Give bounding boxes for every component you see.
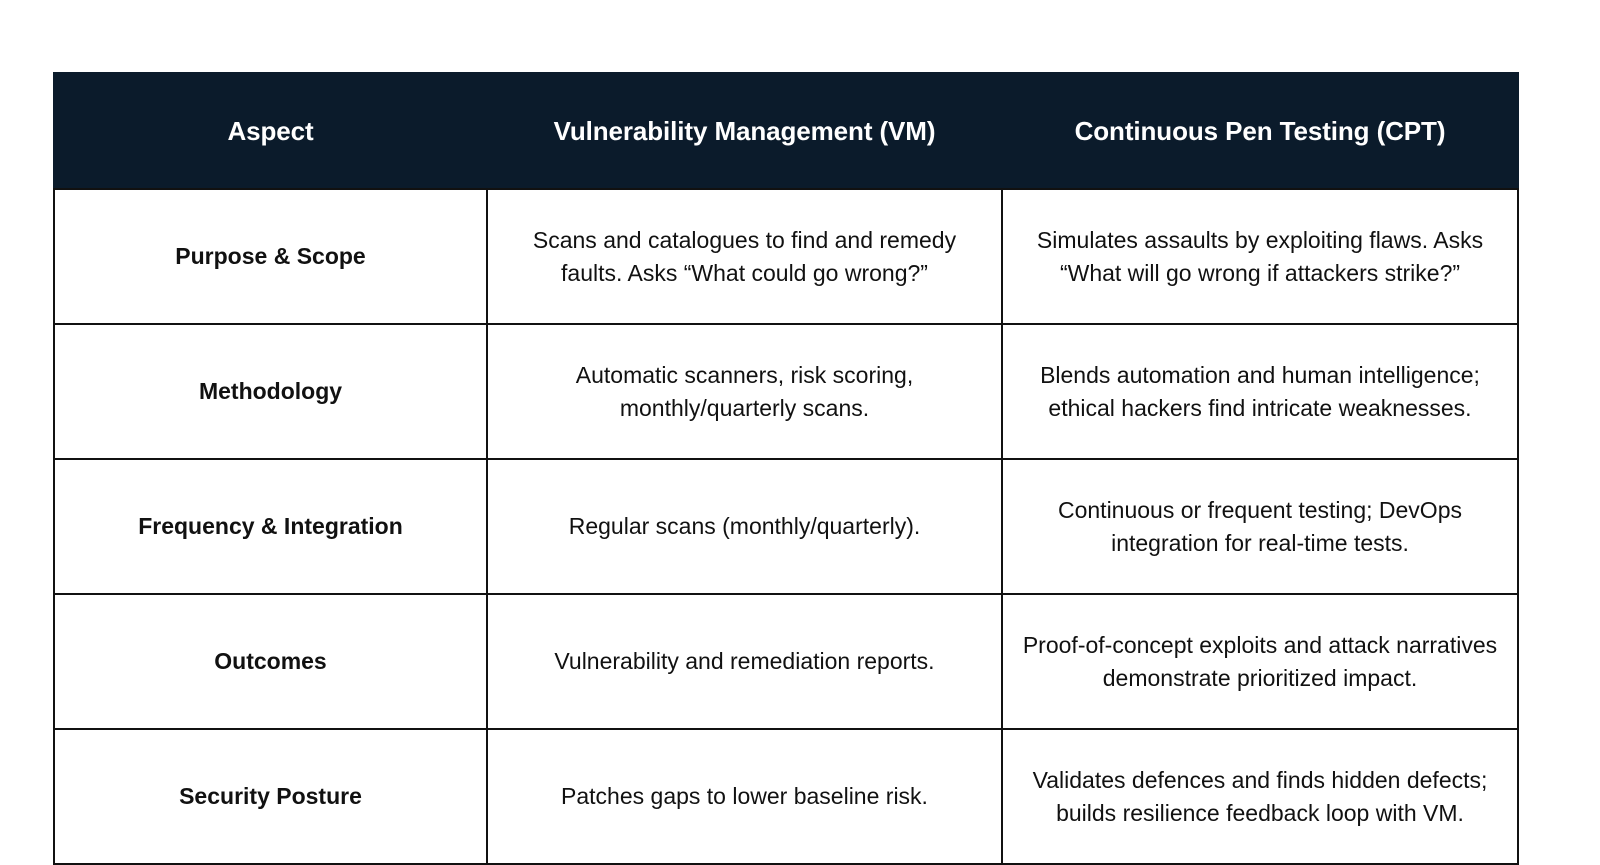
cell-vulnerability-management: Automatic scanners, risk scoring, monthl… <box>487 324 1002 459</box>
comparison-table: Aspect Vulnerability Management (VM) Con… <box>53 72 1519 865</box>
table-row: Outcomes Vulnerability and remediation r… <box>54 594 1518 729</box>
cell-vulnerability-management: Vulnerability and remediation reports. <box>487 594 1002 729</box>
cell-continuous-pen-testing: Proof-of-concept exploits and attack nar… <box>1002 594 1518 729</box>
cell-aspect: Frequency & Integration <box>54 459 487 594</box>
table-body: Purpose & Scope Scans and catalogues to … <box>54 189 1518 864</box>
cell-continuous-pen-testing: Continuous or frequent testing; DevOps i… <box>1002 459 1518 594</box>
cell-continuous-pen-testing: Validates defences and finds hidden defe… <box>1002 729 1518 864</box>
column-header-vulnerability-management: Vulnerability Management (VM) <box>487 73 1002 189</box>
cell-continuous-pen-testing: Simulates assaults by exploiting flaws. … <box>1002 189 1518 324</box>
table-row: Security Posture Patches gaps to lower b… <box>54 729 1518 864</box>
page-root: Aspect Vulnerability Management (VM) Con… <box>0 0 1600 840</box>
table-header-row: Aspect Vulnerability Management (VM) Con… <box>54 73 1518 189</box>
table-header: Aspect Vulnerability Management (VM) Con… <box>54 73 1518 189</box>
comparison-table-container: Aspect Vulnerability Management (VM) Con… <box>53 72 1517 865</box>
cell-vulnerability-management: Regular scans (monthly/quarterly). <box>487 459 1002 594</box>
table-row: Methodology Automatic scanners, risk sco… <box>54 324 1518 459</box>
cell-vulnerability-management: Scans and catalogues to find and remedy … <box>487 189 1002 324</box>
column-header-aspect: Aspect <box>54 73 487 189</box>
cell-aspect: Methodology <box>54 324 487 459</box>
column-header-continuous-pen-testing: Continuous Pen Testing (CPT) <box>1002 73 1518 189</box>
cell-continuous-pen-testing: Blends automation and human intelligence… <box>1002 324 1518 459</box>
cell-aspect: Purpose & Scope <box>54 189 487 324</box>
table-row: Purpose & Scope Scans and catalogues to … <box>54 189 1518 324</box>
cell-aspect: Security Posture <box>54 729 487 864</box>
cell-vulnerability-management: Patches gaps to lower baseline risk. <box>487 729 1002 864</box>
table-row: Frequency & Integration Regular scans (m… <box>54 459 1518 594</box>
cell-aspect: Outcomes <box>54 594 487 729</box>
